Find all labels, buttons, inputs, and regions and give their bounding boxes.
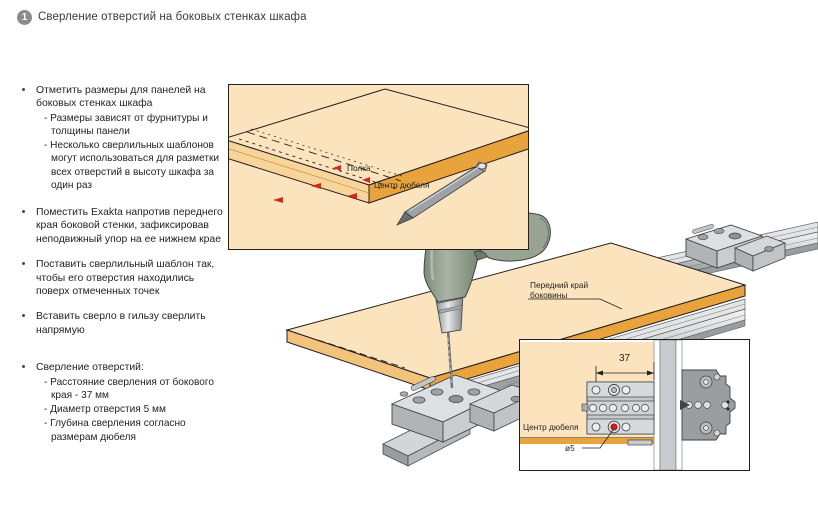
hinge-plate (680, 370, 735, 440)
label-shelf: Полка (347, 163, 371, 173)
label-dowel-center: Центр дюбеля (374, 180, 429, 190)
inset-panel-marking: Полка Центр дюбеля (228, 84, 529, 250)
dowel-hole-highlight (611, 424, 617, 430)
label-dowel-center-bottom: Центр дюбеля (523, 422, 578, 432)
drilling-template-plate (582, 382, 654, 434)
label-front-edge: Передний край боковины (530, 281, 588, 300)
label-dimension-37: 37 (619, 354, 630, 364)
label-diameter: ø5 (565, 443, 575, 453)
inset-panel-dimensions: Центр дюбеля ø5 37 (519, 339, 750, 471)
